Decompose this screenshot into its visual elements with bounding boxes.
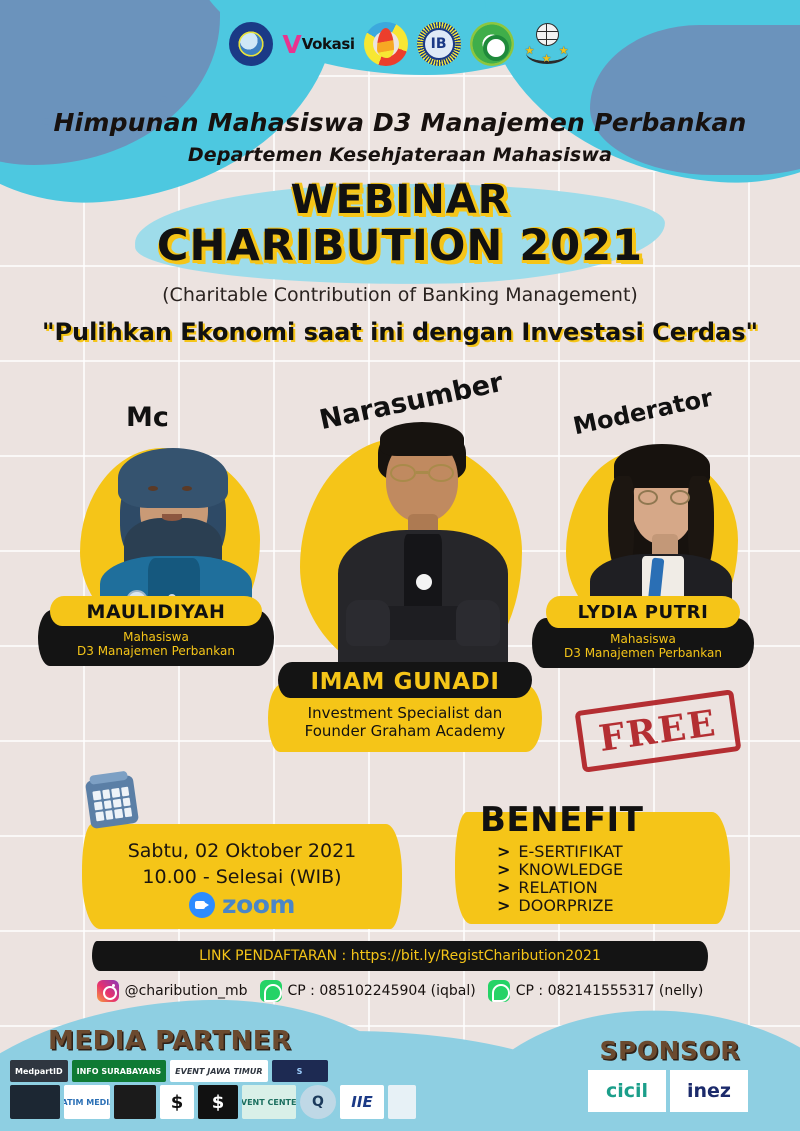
calendar-icon [85, 775, 139, 829]
media-partner-logo: MedpartID [10, 1060, 68, 1082]
narasumber-name: IMAM GUNADI [268, 669, 542, 695]
media-partner-logo [114, 1085, 156, 1119]
gear-seal-logo: IB [417, 22, 461, 66]
top-logo-strip: VVokasi IB ★ ★ ★ [0, 22, 800, 66]
chevron-right-icon: > [497, 861, 510, 879]
free-badge-label: FREE [596, 702, 719, 760]
media-partner-logo [388, 1085, 416, 1119]
benefit-item: DOORPRIZE [518, 897, 613, 915]
benefit-item: E-SERTIFIKAT [518, 843, 622, 861]
contact-whatsapp-1[interactable]: CP : 085102245904 (iqbal) [260, 980, 476, 1002]
whatsapp-icon [488, 980, 510, 1002]
mc-subtitle-2: D3 Manajemen Perbankan [38, 644, 274, 658]
sponsor-logo-inez: inez [670, 1070, 748, 1112]
media-partner-logo: INFO SURABAYANS [72, 1060, 167, 1082]
mc-name-banner: MAULIDIYAH Mahasiswa D3 Manajemen Perban… [38, 596, 274, 668]
media-partner-logo: Q [300, 1085, 336, 1119]
zoom-label: zoom [222, 890, 295, 919]
university-seal-logo [229, 22, 273, 66]
mc-name: MAULIDIYAH [38, 601, 274, 623]
narasumber-subtitle-2: Founder Graham Academy [268, 722, 542, 740]
media-partner-logos: MedpartID INFO SURABAYANS EVENT JAWA TIM… [10, 1060, 416, 1122]
organization-line-1: Himpunan Mahasiswa D3 Manajemen Perbanka… [0, 108, 800, 137]
paint-speck [160, 96, 167, 102]
chevron-right-icon: > [497, 843, 510, 861]
media-partner-logo [10, 1085, 60, 1119]
chevron-right-icon: > [497, 897, 510, 915]
whatsapp-icon [260, 980, 282, 1002]
vokasi-logo-label: Vokasi [302, 35, 355, 53]
event-time: 10.00 - Selesai (WIB) [82, 864, 402, 890]
contact-row: @charibution_mb CP : 085102245904 (iqbal… [0, 980, 800, 1002]
flame-logo [364, 22, 408, 66]
title-tagline: "Pulihkan Ekonomi saat ini dengan Invest… [0, 318, 800, 346]
contact-instagram[interactable]: @charibution_mb [97, 980, 248, 1002]
moderator-subtitle-1: Mahasiswa [532, 632, 754, 646]
benefit-list: >E-SERTIFIKAT >KNOWLEDGE >RELATION >DOOR… [497, 843, 623, 915]
media-partner-logo: S [272, 1060, 328, 1082]
page-title-line-2: CHARIBUTION 2021 [0, 222, 800, 270]
media-partner-logo: EVENT CENTER [242, 1085, 296, 1119]
moderator-name: LYDIA PUTRI [532, 602, 754, 623]
media-partner-title: MEDIA PARTNER [48, 1026, 291, 1056]
media-partner-row-2: JATIM MEDIA $ $ EVENT CENTER Q IIE [10, 1085, 416, 1119]
event-date: Sabtu, 02 Oktober 2021 [82, 838, 402, 864]
person-narasumber [300, 418, 540, 688]
sponsor-logos: cicil inez [588, 1070, 748, 1112]
title-block: WEBINAR CHARIBUTION 2021 [0, 178, 800, 270]
media-partner-logo: JATIM MEDIA [64, 1085, 110, 1119]
media-partner-logo: IIE [340, 1085, 384, 1119]
benefit-item: RELATION [518, 879, 597, 897]
whatsapp-number-1: CP : 085102245904 (iqbal) [288, 983, 476, 999]
chevron-right-icon: > [497, 879, 510, 897]
instagram-icon [97, 980, 119, 1002]
benefit-item: KNOWLEDGE [518, 861, 623, 879]
instagram-handle: @charibution_mb [125, 983, 248, 999]
contact-whatsapp-2[interactable]: CP : 082141555317 (nelly) [488, 980, 704, 1002]
narasumber-portrait [316, 418, 528, 686]
moderator-subtitle-2: D3 Manajemen Perbankan [532, 646, 754, 660]
event-datetime: Sabtu, 02 Oktober 2021 10.00 - Selesai (… [82, 838, 402, 890]
globe-wreath-logo: ★ ★ ★ [523, 22, 571, 66]
registration-link-bar[interactable]: LINK PENDAFTARAN : https://bit.ly/Regist… [92, 941, 708, 971]
organization-line-2: Departemen Kesehjateraan Mahasiswa [0, 144, 800, 166]
whatsapp-number-2: CP : 082141555317 (nelly) [516, 983, 704, 999]
narasumber-subtitle-1: Investment Specialist dan [268, 704, 542, 722]
narasumber-name-banner: IMAM GUNADI Investment Specialist dan Fo… [268, 662, 542, 752]
green-circle-logo [470, 22, 514, 66]
media-partner-row-1: MedpartID INFO SURABAYANS EVENT JAWA TIM… [10, 1060, 416, 1082]
page-title-line-1: WEBINAR [0, 178, 800, 222]
zoom-icon [189, 892, 215, 918]
vokasi-logo: VVokasi [282, 32, 354, 57]
title-subtitle-english: (Charitable Contribution of Banking Mana… [0, 284, 800, 306]
benefit-title: BENEFIT [480, 800, 643, 840]
zoom-platform: zoom [82, 890, 402, 919]
webinar-poster: VVokasi IB ★ ★ ★ Himpunan Mahasiswa D3 M… [0, 0, 800, 1131]
media-partner-logo: EVENT JAWA TIMUR [170, 1060, 267, 1082]
media-partner-logo: $ [160, 1085, 194, 1119]
media-partner-logo: $ [198, 1085, 238, 1119]
registration-link-label: LINK PENDAFTARAN : https://bit.ly/Regist… [199, 948, 601, 964]
sponsor-logo-cicil: cicil [588, 1070, 666, 1112]
role-label-mc: Mc [126, 402, 169, 433]
sponsor-title: SPONSOR [599, 1036, 740, 1065]
mc-subtitle-1: Mahasiswa [38, 630, 274, 644]
moderator-name-banner: LYDIA PUTRI Mahasiswa D3 Manajemen Perba… [532, 596, 754, 668]
